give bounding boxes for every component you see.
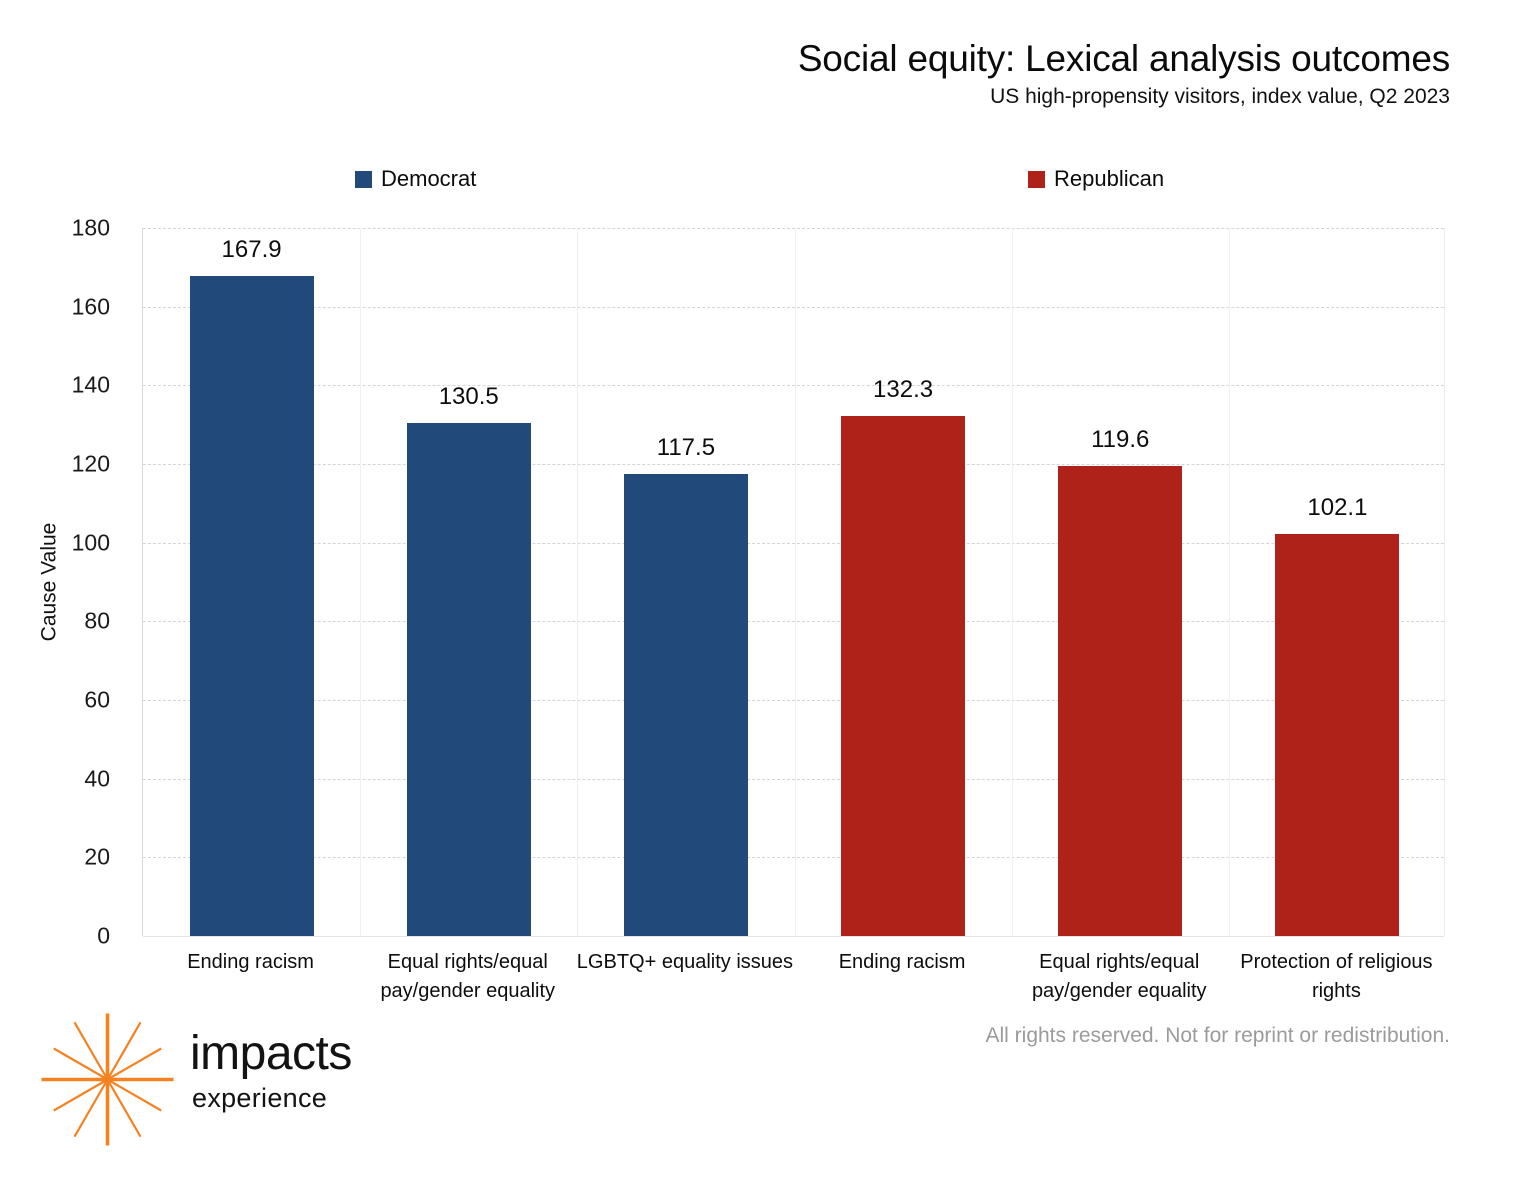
- bar-value-label: 167.9: [222, 236, 282, 264]
- bar-value-label: 132.3: [873, 376, 933, 404]
- legend-item-republican[interactable]: Republican: [1028, 168, 1164, 190]
- copyright-notice: All rights reserved. Not for reprint or …: [985, 1024, 1450, 1048]
- logo-text: impacts experience: [190, 1030, 352, 1112]
- bar-value-label: 117.5: [657, 434, 715, 462]
- x-axis-label: Ending racism: [142, 948, 359, 977]
- legend-item-democrat[interactable]: Democrat: [355, 168, 476, 190]
- bar-slot: 117.5: [577, 228, 794, 936]
- x-axis-label-line: LGBTQ+ equality issues: [576, 948, 793, 977]
- bar-value-label: 130.5: [439, 383, 499, 411]
- logo-wordmark: impacts: [190, 1030, 352, 1078]
- bar[interactable]: [1058, 466, 1182, 936]
- x-axis-label-line: Equal rights/equal: [1011, 948, 1228, 977]
- bar-value-label: 119.6: [1091, 426, 1149, 454]
- x-axis-label-line: Equal rights/equal: [359, 948, 576, 977]
- x-axis-label-line: pay/gender equality: [359, 977, 576, 1006]
- chart-header: Social equity: Lexical analysis outcomes…: [798, 38, 1450, 109]
- bar[interactable]: [624, 474, 748, 936]
- bar-slot: 102.1: [1229, 228, 1446, 936]
- bar-slot: 132.3: [795, 228, 1012, 936]
- bar[interactable]: [407, 423, 531, 936]
- logo-tagline: experience: [192, 1085, 352, 1112]
- x-axis-label-line: Ending racism: [794, 948, 1011, 977]
- brand-logo: impacts experience: [40, 1008, 390, 1128]
- bar-slot: 130.5: [360, 228, 577, 936]
- legend-swatch-icon: [1028, 171, 1045, 188]
- plot-wrapper: 167.9130.5117.5132.3119.6102.1: [142, 228, 1445, 936]
- y-tick-label: 60: [84, 687, 110, 714]
- y-tick-label: 80: [84, 608, 110, 635]
- plot-area: 167.9130.5117.5132.3119.6102.1: [142, 228, 1445, 936]
- legend-swatch-icon: [355, 171, 372, 188]
- x-axis-label: LGBTQ+ equality issues: [576, 948, 793, 977]
- chart-subtitle: US high-propensity visitors, index value…: [798, 85, 1450, 109]
- legend-label: Republican: [1054, 168, 1164, 190]
- x-axis-label-line: Ending racism: [142, 948, 359, 977]
- x-axis-label: Protection of religiousrights: [1228, 948, 1445, 1006]
- y-tick-label: 180: [72, 215, 110, 242]
- y-tick-label: 140: [72, 372, 110, 399]
- page-title: Social equity: Lexical analysis outcomes: [798, 38, 1450, 79]
- bar-value-label: 102.1: [1307, 494, 1367, 522]
- y-tick-label: 100: [72, 529, 110, 556]
- legend-label: Democrat: [381, 168, 476, 190]
- x-axis-label-line: rights: [1228, 977, 1445, 1006]
- gridline: [143, 936, 1444, 937]
- y-tick-label: 160: [72, 293, 110, 320]
- x-axis-label: Equal rights/equalpay/gender equality: [359, 948, 576, 1006]
- y-tick-label: 20: [84, 844, 110, 871]
- bar[interactable]: [841, 416, 965, 936]
- bar-slot: 167.9: [143, 228, 360, 936]
- bar-slot: 119.6: [1012, 228, 1229, 936]
- x-axis-label-line: Protection of religious: [1228, 948, 1445, 977]
- x-axis-label: Equal rights/equalpay/gender equality: [1011, 948, 1228, 1006]
- y-tick-label: 0: [97, 923, 110, 950]
- chart-legend: DemocratRepublican: [0, 168, 1528, 198]
- starburst-icon: [40, 1012, 175, 1147]
- bar[interactable]: [190, 276, 314, 936]
- y-tick-label: 40: [84, 765, 110, 792]
- y-tick-label: 120: [72, 451, 110, 478]
- bar[interactable]: [1275, 534, 1399, 936]
- x-axis-label: Ending racism: [794, 948, 1011, 977]
- x-axis-label-line: pay/gender equality: [1011, 977, 1228, 1006]
- y-axis-ticks: 020406080100120140160180: [0, 228, 128, 936]
